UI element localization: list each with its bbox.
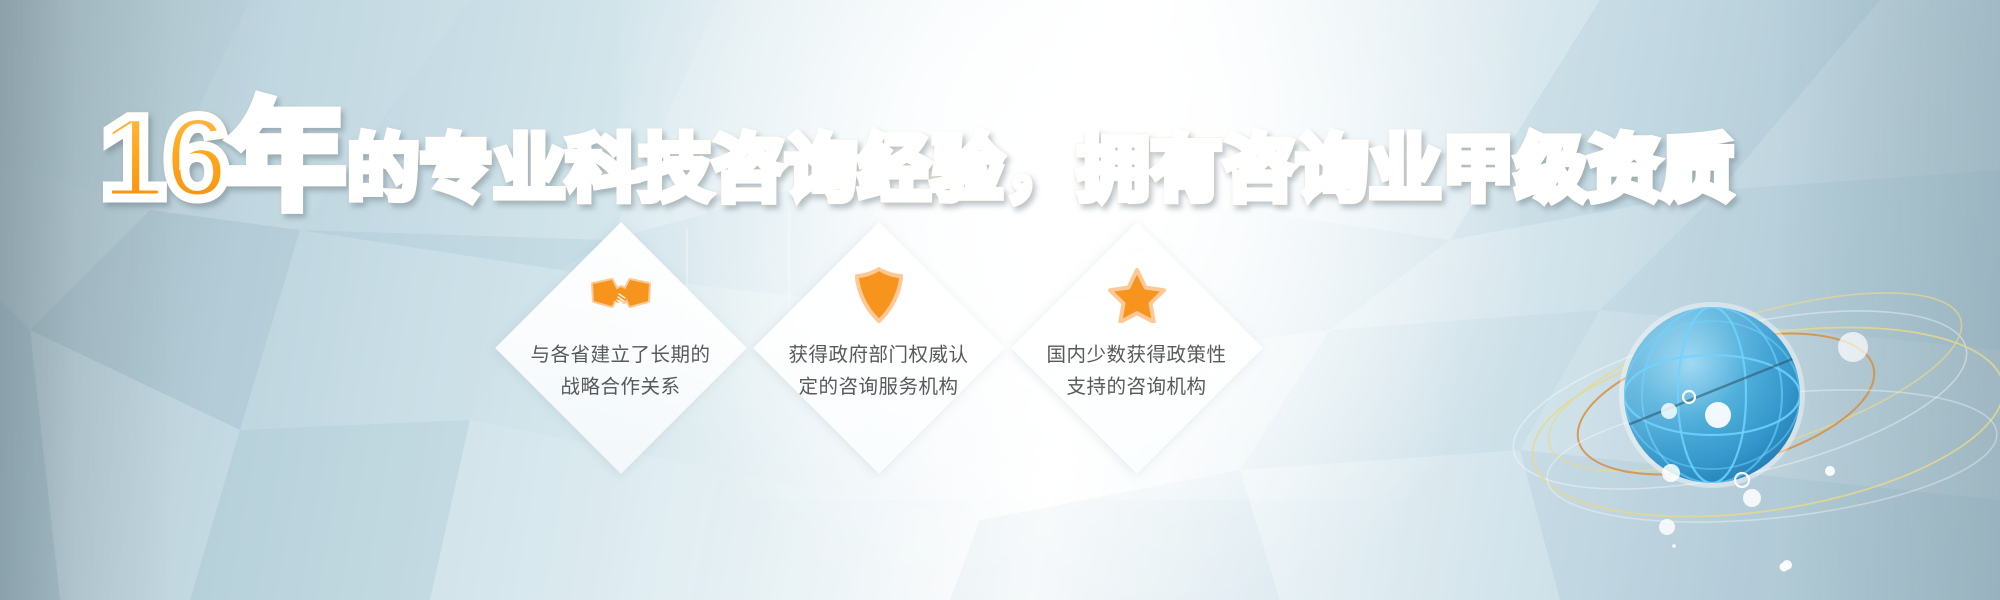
headline-years: 16年	[100, 104, 343, 213]
headline: 16年 的专业科技咨询经验，拥有咨询业甲级资质	[100, 104, 1734, 213]
feature-card[interactable]: 获得政府部门权威认 定的咨询服务机构	[755, 224, 1002, 471]
star-icon	[1106, 266, 1168, 324]
feature-card-text: 国内少数获得政策性 支持的咨询机构	[1046, 340, 1226, 403]
feature-line-2: 定的咨询服务机构	[788, 372, 968, 404]
feature-line-1: 与各省建立了长期的	[530, 340, 710, 372]
handshake-icon	[590, 266, 652, 324]
feature-card[interactable]: 国内少数获得政策性 支持的咨询机构	[1013, 224, 1260, 471]
promo-banner: 16年 的专业科技咨询经验，拥有咨询业甲级资质	[0, 0, 2000, 600]
globe-network-graphic	[1540, 232, 2000, 572]
feature-line-2: 支持的咨询机构	[1046, 372, 1226, 404]
feature-line-1: 国内少数获得政策性	[1046, 340, 1226, 372]
headline-text: 的专业科技咨询经验，拥有咨询业甲级资质	[347, 133, 1734, 213]
feature-card-text: 与各省建立了长期的 战略合作关系	[530, 340, 710, 403]
feature-cards: 与各省建立了长期的 战略合作关系 获得政府部门权威认 定的咨询服务机构	[497, 224, 1260, 471]
feature-line-2: 战略合作关系	[530, 372, 710, 404]
feature-card-text: 获得政府部门权威认 定的咨询服务机构	[788, 340, 968, 403]
feature-card[interactable]: 与各省建立了长期的 战略合作关系	[497, 224, 744, 471]
feature-line-1: 获得政府部门权威认	[788, 340, 968, 372]
shield-icon	[848, 266, 910, 324]
